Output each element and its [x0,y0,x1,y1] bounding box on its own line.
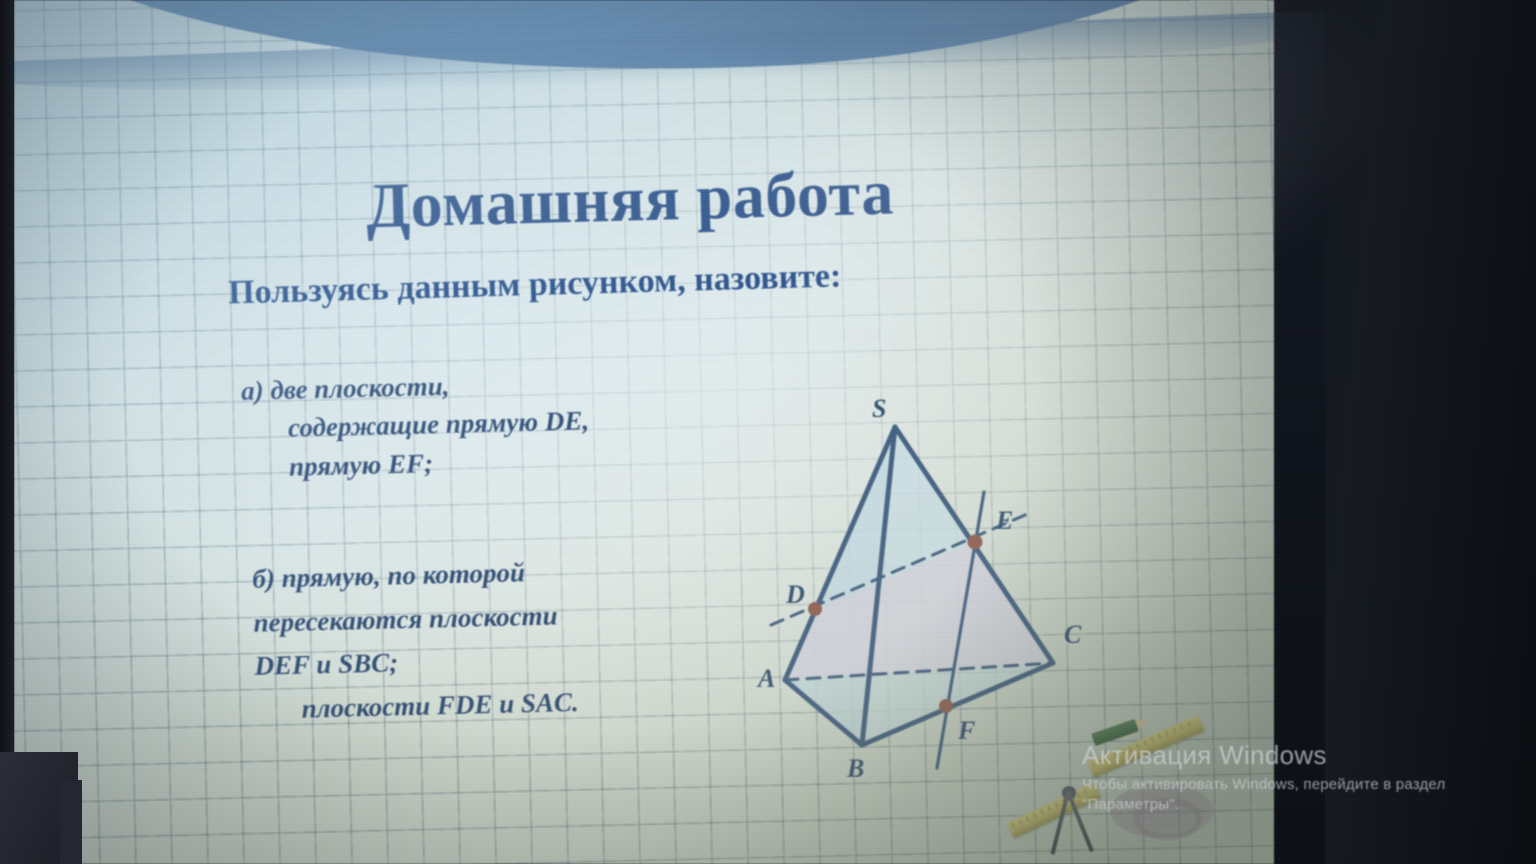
windows-activation-watermark: Активация Windows Чтобы активировать Win… [1082,742,1512,816]
monitor-bezel-left [0,0,14,864]
presentation-slide: Домашняя работа Пользуясь данным рисунко… [14,0,1274,864]
watermark-title: Активация Windows [1082,742,1512,768]
watermark-subtitle: Чтобы активировать Windows, перейдите в … [1082,775,1512,816]
photo-of-monitor: Домашняя работа Пользуясь данным рисунко… [0,0,1536,864]
camera-vignette [14,0,1274,864]
monitor-bezel-bottom-left-2 [60,780,82,864]
